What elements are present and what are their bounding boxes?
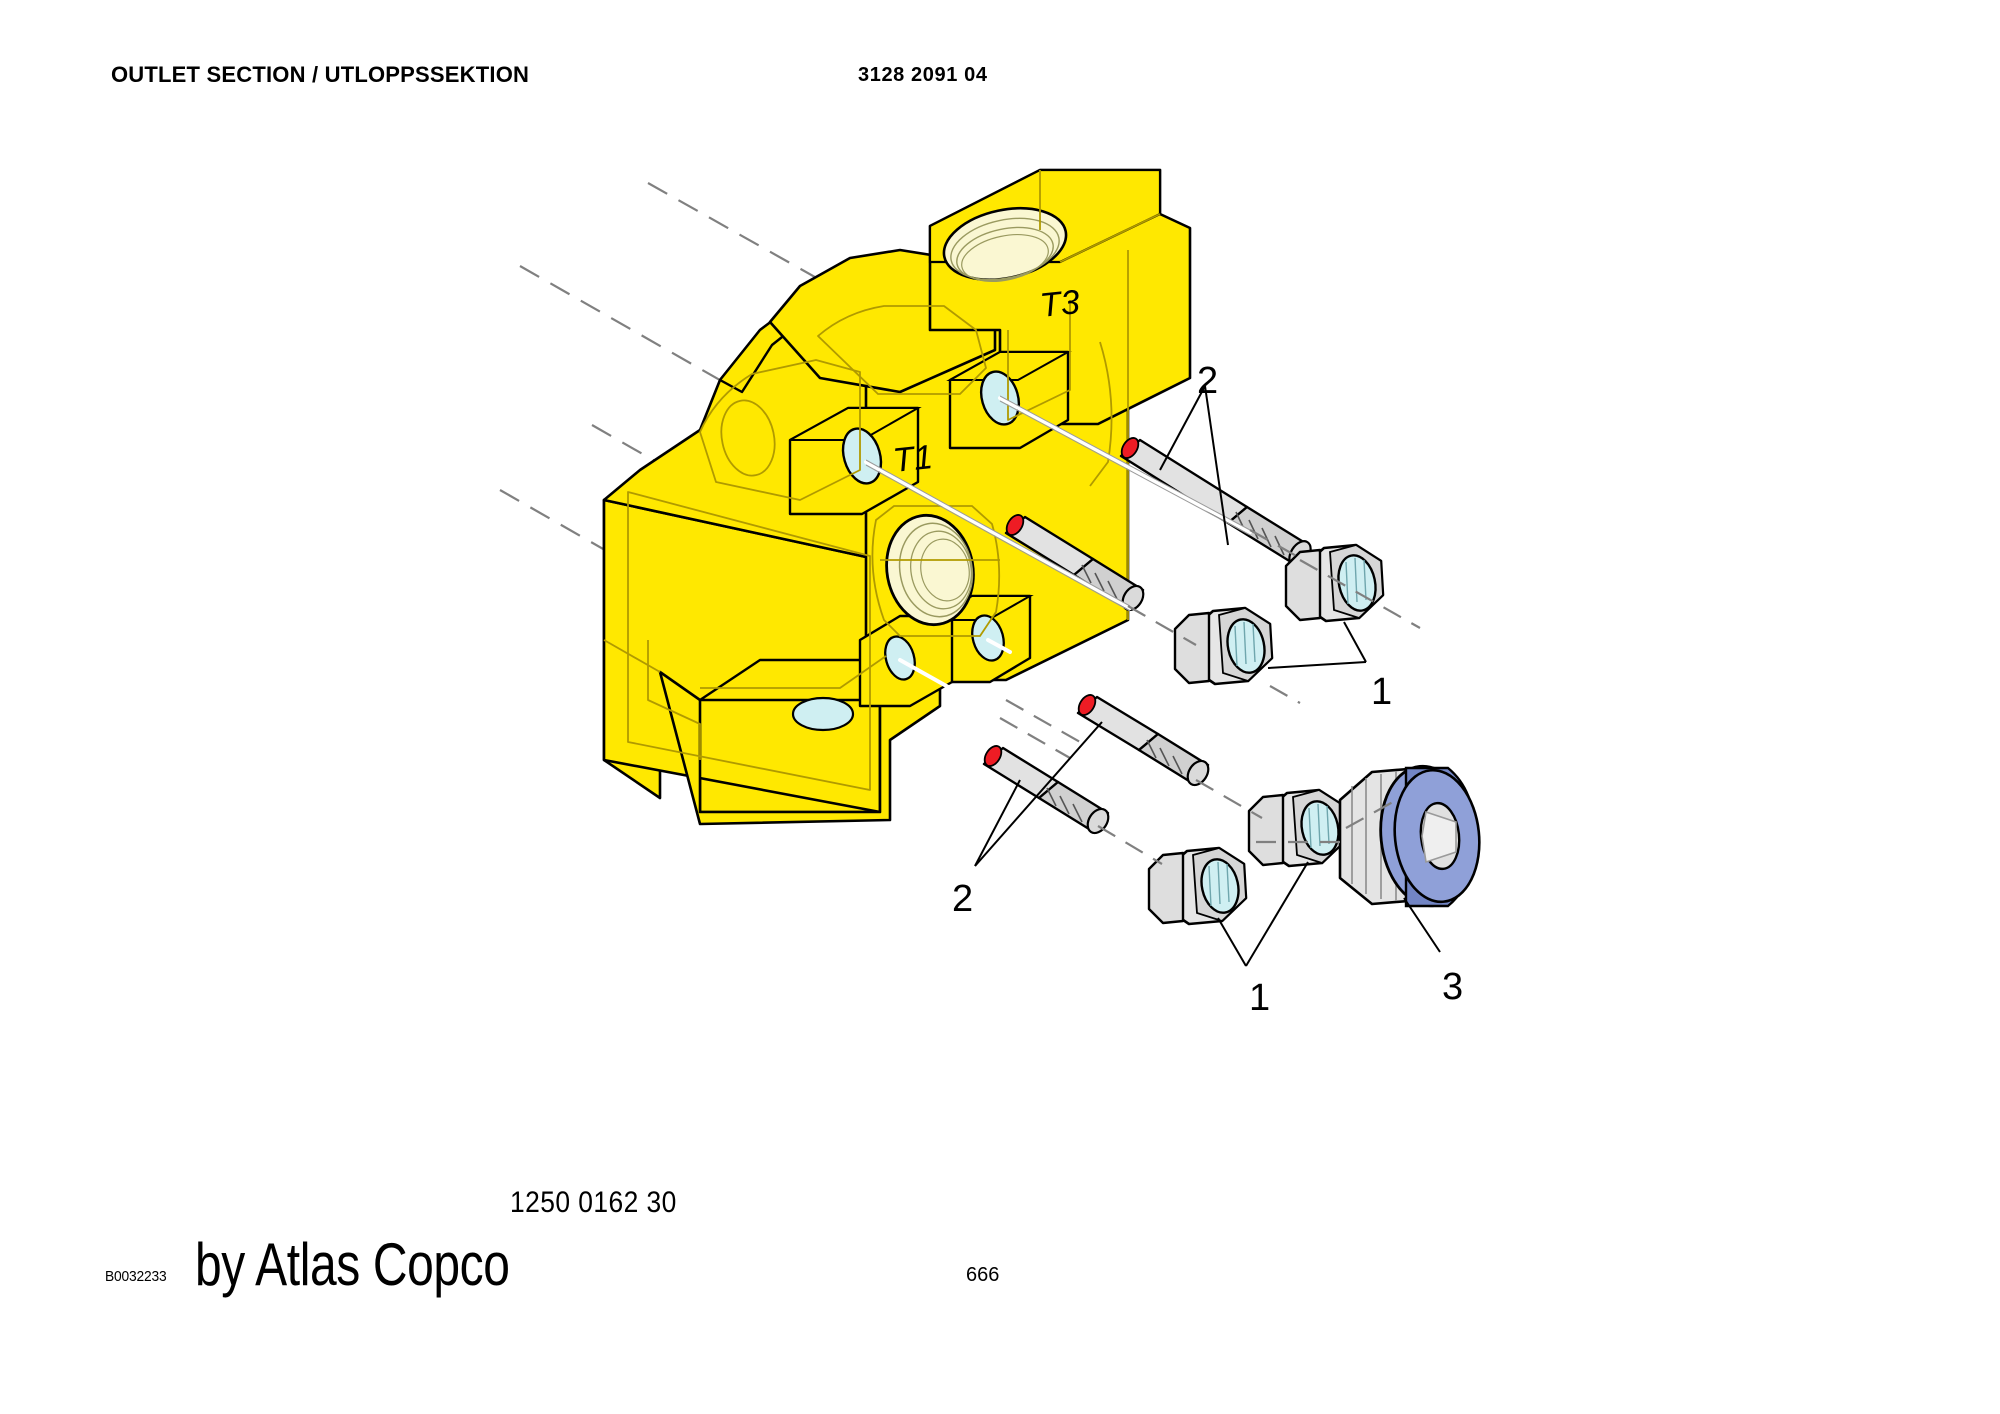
flange-nut-lower-inner <box>1249 790 1346 866</box>
flange-nut-middle <box>1175 608 1272 684</box>
drawing-number: 1250 0162 30 <box>510 1186 677 1220</box>
callout-1-bottom: 1 <box>1249 979 1270 1017</box>
port-label-t1: T1 <box>891 438 935 481</box>
locating-hole-oval <box>793 698 853 730</box>
port-label-t3: T3 <box>1038 283 1082 326</box>
screwed-plug <box>1340 762 1486 911</box>
figure-code: B0032233 <box>105 1268 166 1285</box>
stud-lower-inner <box>1075 692 1212 789</box>
brand-mark: by Atlas Copco <box>195 1230 510 1299</box>
flange-nut-lower-outer <box>1149 848 1246 924</box>
callout-3: 3 <box>1442 968 1463 1006</box>
stud-lower-outer <box>981 743 1112 837</box>
callout-2-top: 2 <box>1197 362 1218 400</box>
callout-1-top: 1 <box>1371 673 1392 711</box>
page-number: 666 <box>966 1264 999 1287</box>
exploded-view-illustration <box>0 0 2000 1414</box>
callout-2-bottom: 2 <box>952 880 973 918</box>
flange-nut-upper-right <box>1286 545 1383 621</box>
drawing-page: OUTLET SECTION / UTLOPPSSEKTION 3128 209… <box>0 0 2000 1414</box>
